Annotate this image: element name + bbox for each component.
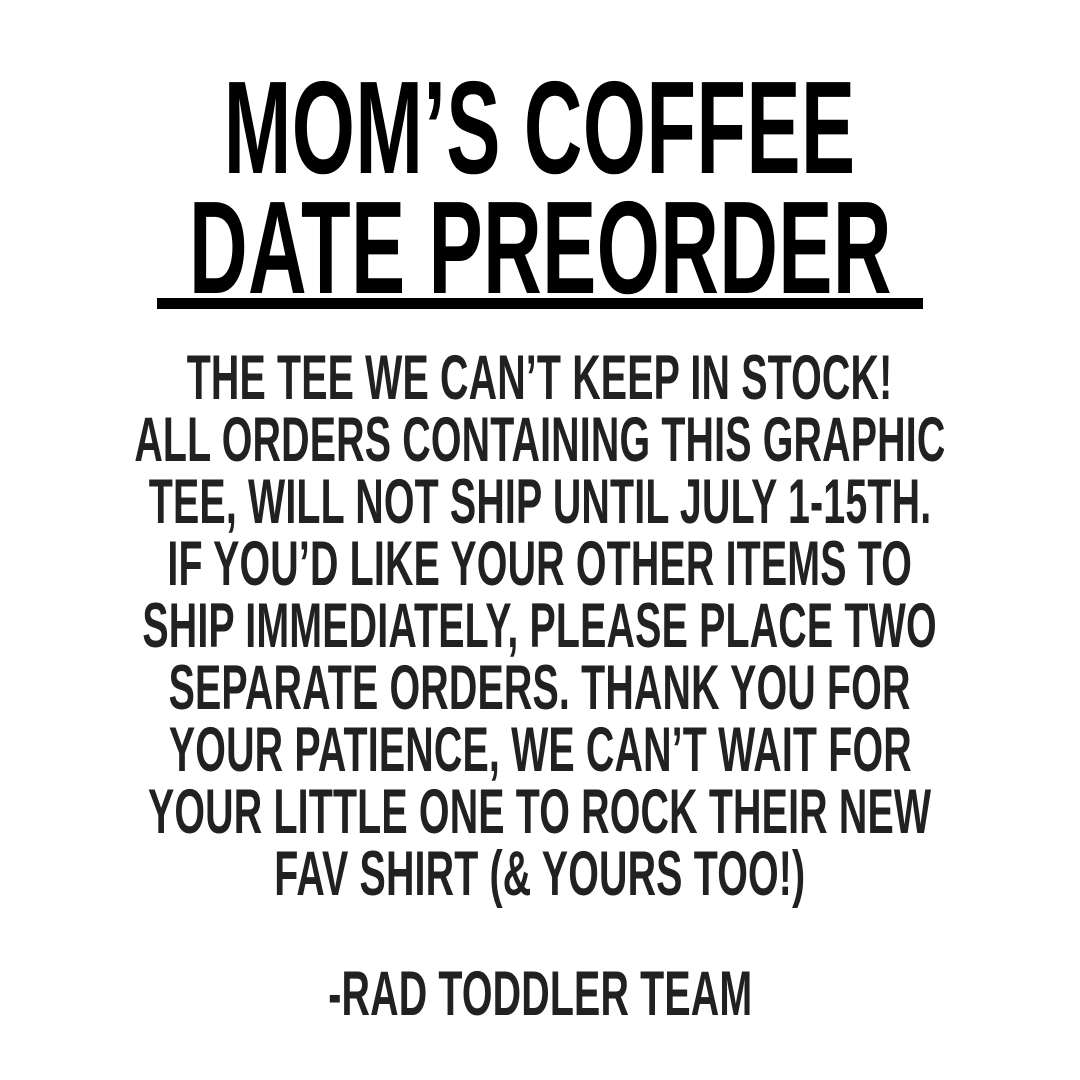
body-line: TEE, WILL NOT SHIP UNTIL JULY 1-15TH. xyxy=(149,471,932,533)
body-line: THE TEE WE CAN’T KEEP IN STOCK! xyxy=(187,347,893,409)
body-line: ALL ORDERS CONTAINING THIS GRAPHIC xyxy=(134,409,945,471)
title-line-two: DATE PREORDER xyxy=(189,182,892,298)
body-line: SHIP IMMEDIATELY, PLEASE PLACE TWO xyxy=(143,595,937,657)
body-line: FAV SHIRT (& YOURS TOO!) xyxy=(275,843,806,905)
title-line-two-group: DATE PREORDER xyxy=(0,182,1080,309)
title-line-one: MOM’S COFFEE xyxy=(224,62,856,180)
body-line: SEPARATE ORDERS. THANK YOU FOR xyxy=(169,657,911,719)
preorder-announcement-poster: MOM’S COFFEE DATE PREORDER THE TEE WE CA… xyxy=(0,0,1080,1080)
body-line: IF YOU’D LIKE YOUR OTHER ITEMS TO xyxy=(168,533,913,595)
body-line: YOUR PATIENCE, WE CAN’T WAIT FOR xyxy=(169,719,912,781)
poster-body-text: THE TEE WE CAN’T KEEP IN STOCK! ALL ORDE… xyxy=(0,347,1080,905)
poster-title: MOM’S COFFEE DATE PREORDER xyxy=(0,62,1080,309)
body-line: YOUR LITTLE ONE TO ROCK THEIR NEW xyxy=(148,781,931,843)
signature-text: -RAD TODDLER TEAM xyxy=(328,963,752,1025)
poster-signature: -RAD TODDLER TEAM xyxy=(201,963,880,1025)
